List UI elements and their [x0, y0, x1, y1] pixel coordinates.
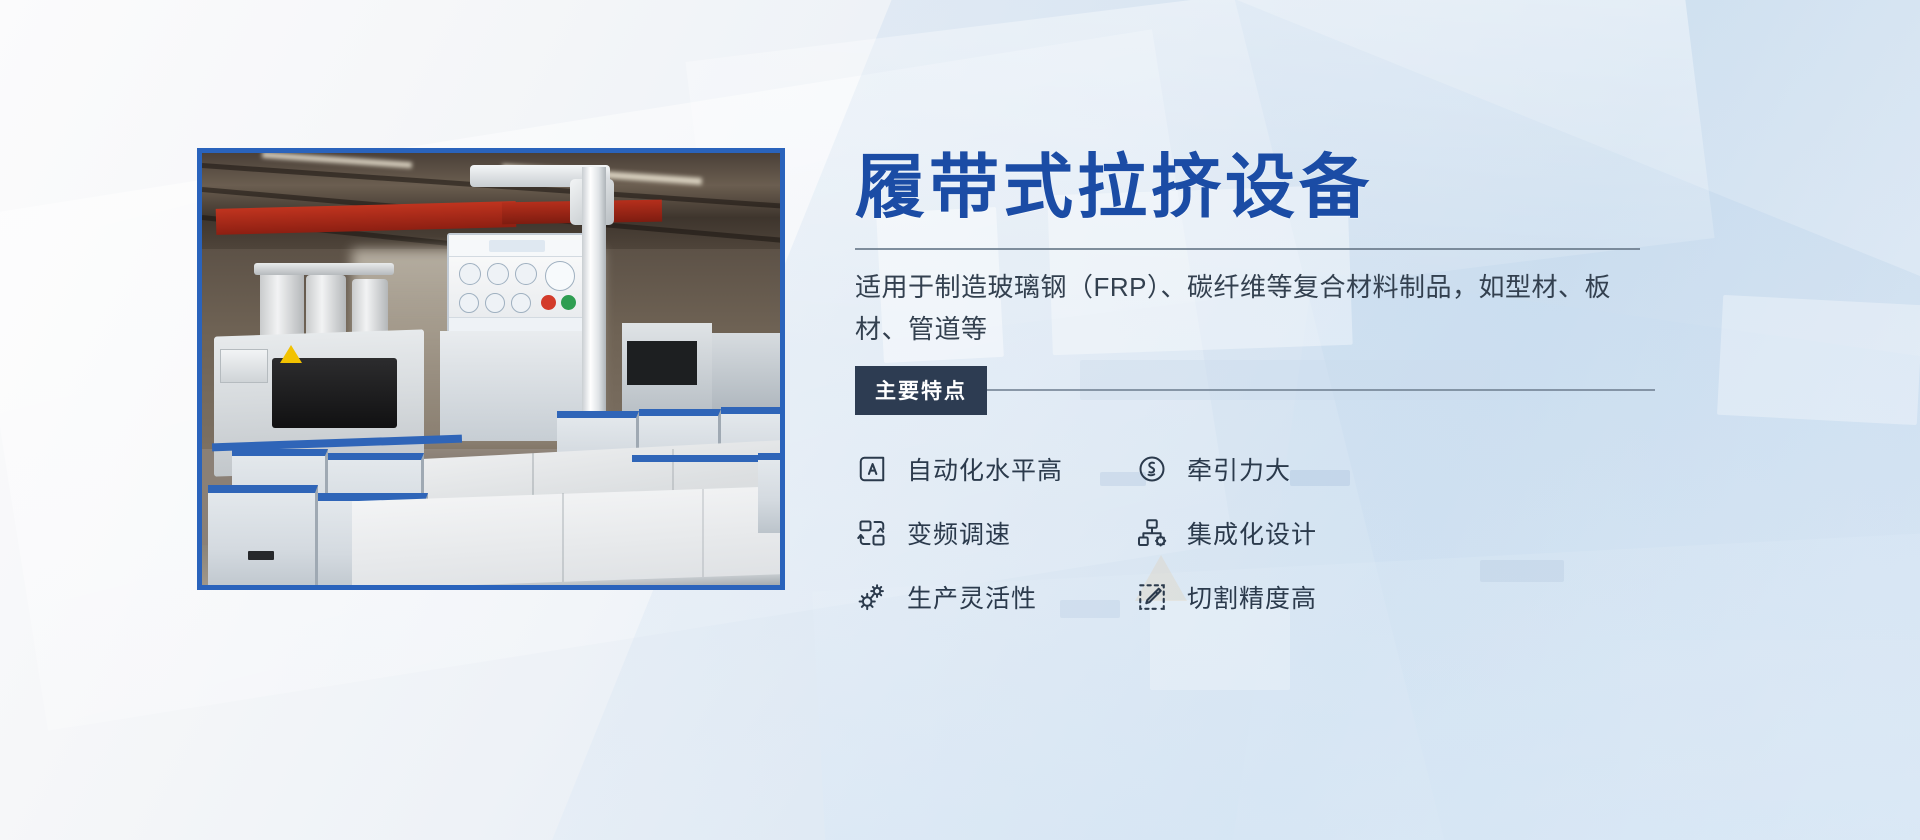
feature-item-automation[interactable]: 自动化水平高 [855, 451, 1125, 487]
feature-label: 生产灵活性 [907, 579, 1037, 615]
divider-above-description [855, 248, 1640, 250]
automation-a-box-icon [855, 452, 889, 486]
photo-cabinet-slot [248, 551, 274, 560]
feature-label: 自动化水平高 [907, 451, 1063, 487]
photo-cabinet-r1 [758, 453, 780, 533]
photo-bg-machine-window [627, 341, 697, 385]
feature-label: 变频调速 [907, 515, 1011, 551]
photo-machine-window [272, 358, 397, 428]
product-photo [202, 153, 780, 585]
feature-label: 切割精度高 [1187, 579, 1317, 615]
feature-list: 自动化水平高 牵引力大 [855, 451, 1655, 615]
photo-gauge-4 [459, 293, 479, 313]
feature-item-cutting-precision[interactable]: 切割精度高 [1135, 579, 1405, 615]
photo-gauge-3 [515, 263, 537, 285]
features-badge-row: 主要特点 [855, 366, 1655, 415]
status-badge: 主要特点 [855, 366, 987, 415]
photo-conveyor-seam-5 [702, 489, 704, 585]
page-title: 履带式拉挤设备 [855, 150, 1655, 226]
photo-gauge-5 [485, 293, 505, 313]
traction-waves-circle-icon [1135, 452, 1169, 486]
background-ghost-block-8 [1717, 295, 1920, 425]
feature-item-flexibility[interactable]: 生产灵活性 [855, 579, 1125, 615]
photo-gauge-1 [459, 263, 481, 285]
photo-hopper-rail [254, 263, 394, 275]
background-ghost-block-9 [1620, 640, 1920, 800]
photo-conveyor-front [352, 485, 780, 585]
photo-hopper-2 [306, 275, 346, 341]
photo-bg-machine-2 [712, 333, 780, 413]
divider-right-of-badge [987, 389, 1655, 391]
product-description: 适用于制造玻璃钢（FRP）、碳纤维等复合材料制品，如型材、板材、管道等 [855, 266, 1645, 350]
photo-hopper-1 [260, 271, 304, 341]
photo-conveyor-seam-4 [562, 493, 564, 585]
frequency-adjust-icon [855, 516, 889, 550]
feature-label: 牵引力大 [1187, 451, 1291, 487]
banner-content: 履带式拉挤设备 适用于制造玻璃钢（FRP）、碳纤维等复合材料制品，如型材、板材、… [855, 150, 1655, 615]
product-photo-card[interactable] [197, 148, 785, 590]
feature-item-traction[interactable]: 牵引力大 [1135, 451, 1405, 487]
feature-label: 集成化设计 [1187, 515, 1317, 551]
cutting-precision-pen-icon [1135, 580, 1169, 614]
gears-flexibility-icon [855, 580, 889, 614]
photo-panel-badge [489, 240, 545, 252]
photo-gauge-6 [511, 293, 531, 313]
photo-cabinet-f3 [208, 485, 318, 585]
photo-switch-red [541, 295, 556, 310]
feature-item-integrated-design[interactable]: 集成化设计 [1135, 515, 1405, 551]
photo-machine-side [220, 349, 268, 383]
photo-switch-green [561, 295, 576, 310]
photo-gauge-2 [487, 263, 509, 285]
feature-item-frequency[interactable]: 变频调速 [855, 515, 1125, 551]
integrated-design-nodes-icon [1135, 516, 1169, 550]
photo-control-panel [447, 233, 587, 333]
photo-gauge-main [545, 261, 575, 291]
